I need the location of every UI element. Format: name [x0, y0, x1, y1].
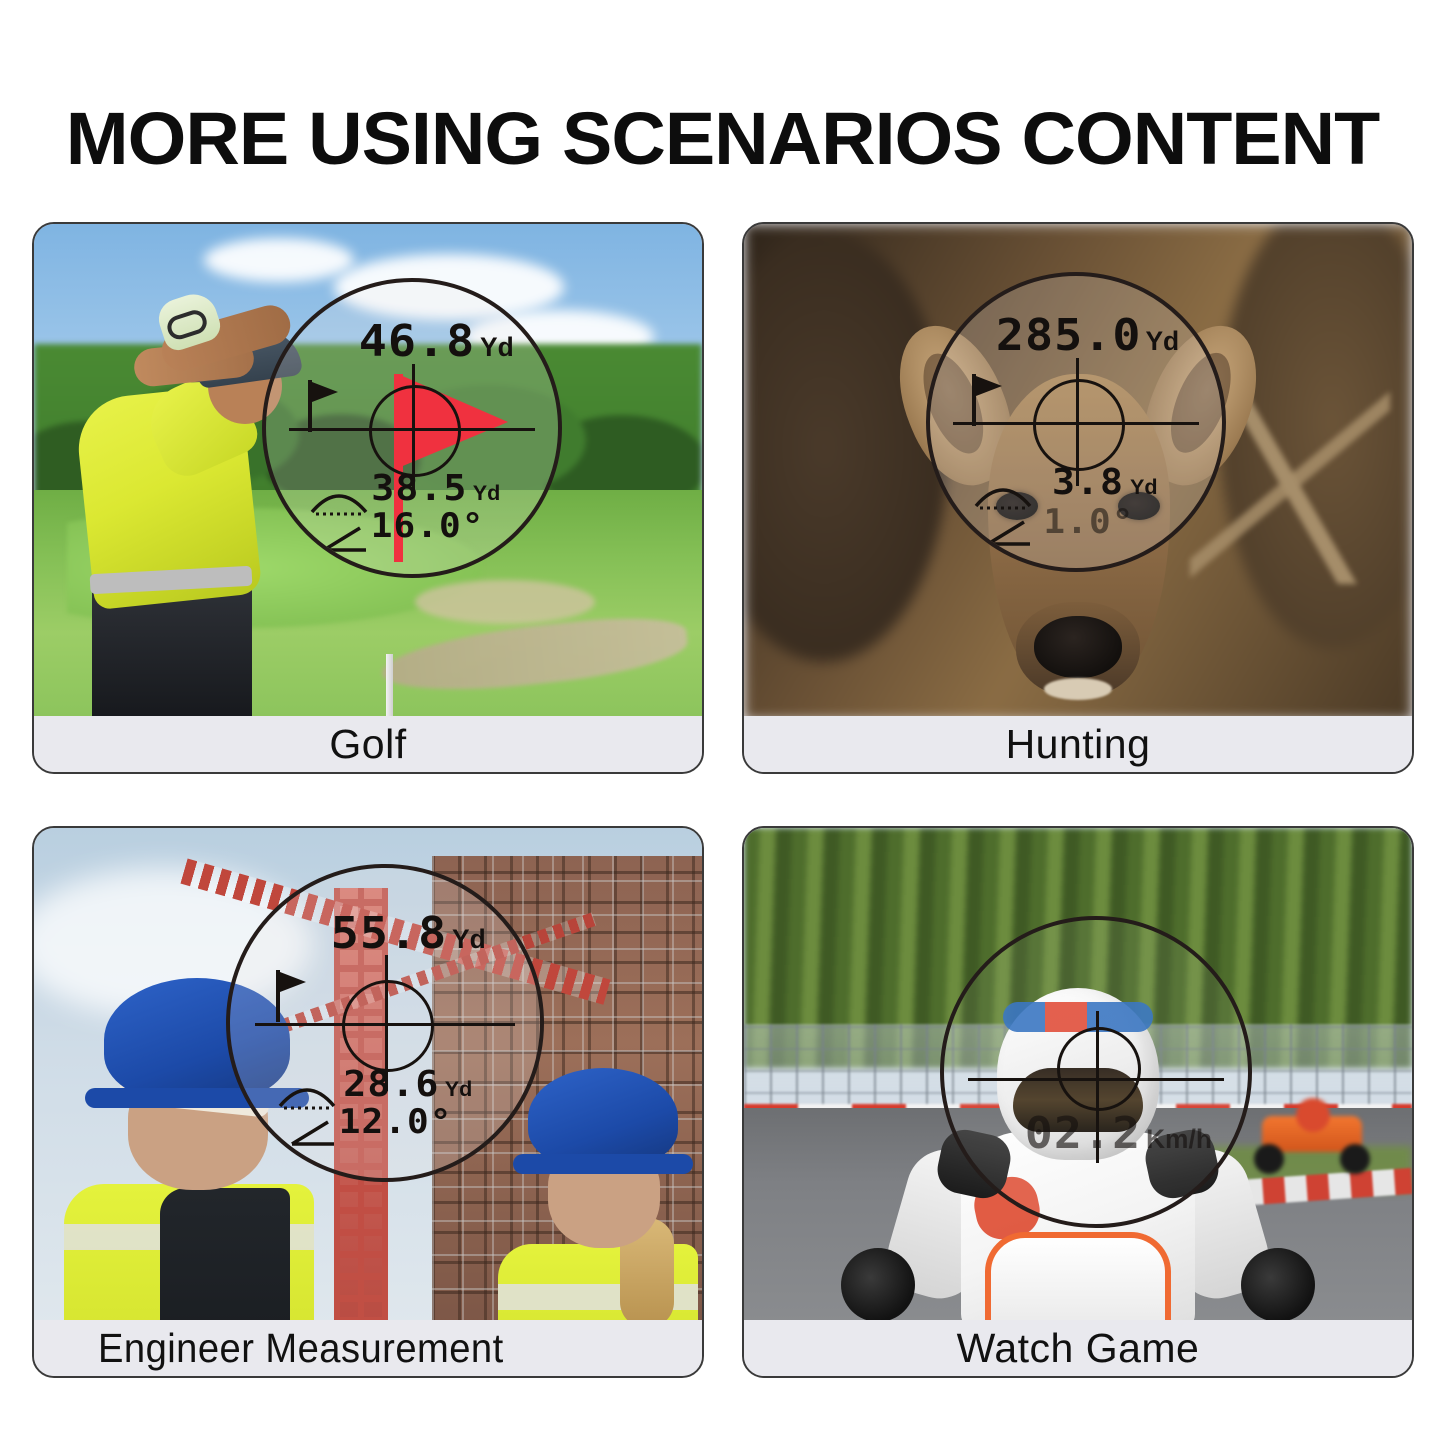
background-kart [1252, 1098, 1372, 1174]
card-caption-hunting: Hunting [744, 716, 1412, 772]
engineer-scene: 55.8Yd 28.6Yd [34, 828, 702, 1324]
scope-angle-engineer: 12.0° [342, 1102, 449, 1142]
angle-icon [288, 1114, 340, 1150]
page-title: MORE USING SCENARIOS CONTENT [0, 96, 1445, 181]
scenarios-page: MORE USING SCENARIOS CONTENT [0, 0, 1445, 1445]
scope-speed-watchgame: 02.2Km/h [1028, 1108, 1212, 1159]
angle-icon [984, 514, 1036, 550]
rangefinder-scope-hunting: 285.0Yd 3.8Yd [926, 272, 1226, 572]
scenario-card-watchgame[interactable]: 02.2Km/h Watch Game [742, 826, 1414, 1378]
kart-racing-scene: 02.2Km/h [744, 828, 1412, 1324]
scenario-card-engineer[interactable]: 55.8Yd 28.6Yd [32, 826, 704, 1378]
scope-distance-engineer: 55.8Yd [334, 908, 486, 959]
slope-arc-icon [972, 472, 1034, 512]
golf-scene: 46.8Yd 38.5Yd [34, 224, 702, 720]
flag-icon [966, 372, 1010, 428]
angle-icon [320, 520, 372, 556]
rangefinder-scope-watchgame: 02.2Km/h [940, 916, 1252, 1228]
scenario-grid: 46.8Yd 38.5Yd [32, 222, 1414, 1378]
scope-distance-golf: 46.8Yd [362, 316, 514, 367]
scope-distance-hunting: 285.0Yd [1000, 310, 1179, 361]
scenario-card-golf[interactable]: 46.8Yd 38.5Yd [32, 222, 704, 774]
scope-angle-hunting: 1.0° [1046, 502, 1132, 542]
scope-horizontal-engineer: 28.6Yd [346, 1064, 472, 1105]
flag-icon [302, 378, 346, 434]
flag-icon [270, 968, 314, 1024]
card-caption-engineer: Engineer Measurement [34, 1320, 702, 1376]
hunting-scene: 285.0Yd 3.8Yd [744, 224, 1412, 720]
slope-arc-icon [276, 1072, 338, 1112]
scope-angle-golf: 16.0° [374, 506, 481, 546]
slope-arc-icon [308, 478, 370, 518]
rangefinder-scope-golf: 46.8Yd 38.5Yd [262, 278, 562, 578]
scenario-card-hunting[interactable]: 285.0Yd 3.8Yd [742, 222, 1414, 774]
card-caption-watchgame: Watch Game [744, 1320, 1412, 1376]
card-caption-golf: Golf [34, 716, 702, 772]
scope-horizontal-golf: 38.5Yd [374, 468, 500, 509]
rangefinder-scope-engineer: 55.8Yd 28.6Yd [226, 864, 544, 1182]
scope-horizontal-hunting: 3.8Yd [1054, 462, 1158, 503]
